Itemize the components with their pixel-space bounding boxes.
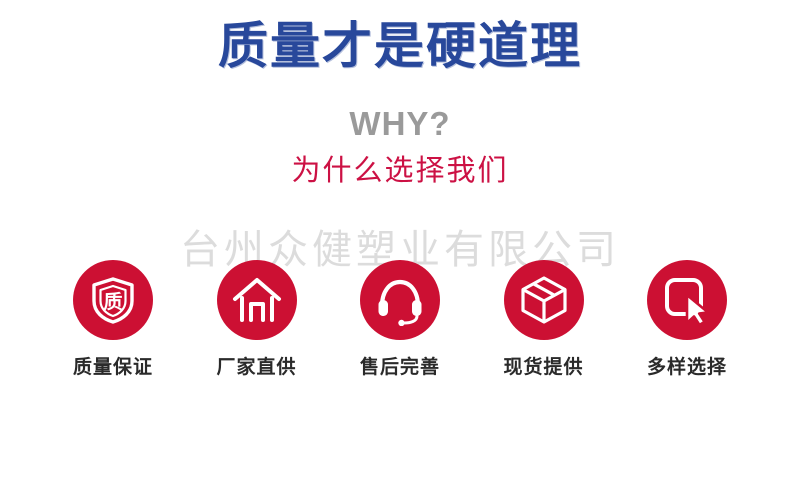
page-title: 质量才是硬道理 bbox=[0, 14, 800, 78]
feature-label: 质量保证 bbox=[73, 356, 153, 380]
why-label: WHY? bbox=[0, 104, 800, 144]
svg-text:质: 质 bbox=[103, 291, 122, 313]
feature-item-factory: 厂家直供 bbox=[194, 260, 320, 380]
factory-house-icon bbox=[217, 260, 297, 340]
feature-item-quality: 质 质量保证 bbox=[50, 260, 176, 380]
package-box-icon bbox=[504, 260, 584, 340]
feature-item-support: 售后完善 bbox=[337, 260, 463, 380]
feature-item-stock: 现货提供 bbox=[481, 260, 607, 380]
feature-label: 现货提供 bbox=[503, 356, 583, 380]
headset-support-icon bbox=[360, 260, 440, 340]
promo-banner: 质量才是硬道理 WHY? 为什么选择我们 台州众健塑业有限公司 质 质量保证 bbox=[0, 0, 800, 492]
feature-label: 售后完善 bbox=[360, 356, 440, 380]
feature-label: 多样选择 bbox=[647, 356, 727, 380]
subheading: 为什么选择我们 bbox=[0, 152, 800, 190]
feature-list: 质 质量保证 厂家直供 bbox=[50, 260, 750, 380]
feature-item-variety: 多样选择 bbox=[624, 260, 750, 380]
shield-quality-icon: 质 bbox=[73, 260, 153, 340]
cursor-select-icon bbox=[647, 260, 727, 340]
feature-label: 厂家直供 bbox=[216, 356, 296, 380]
